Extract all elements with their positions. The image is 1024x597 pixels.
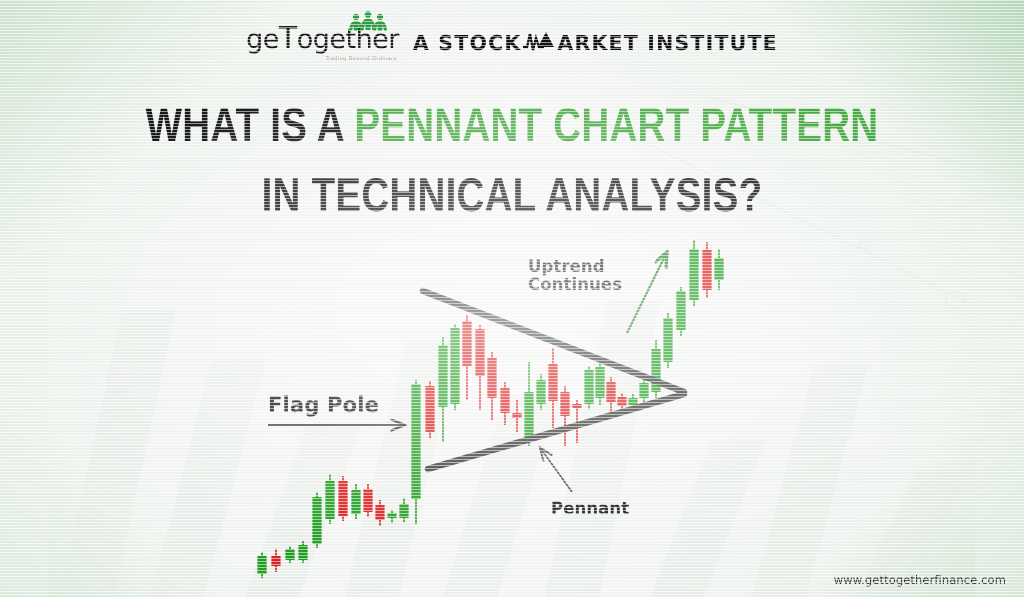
title-line1-green: PENNANT CHART PATTERN [354, 98, 878, 151]
candlestick [536, 374, 545, 410]
flag-pole-label: Flag Pole [268, 394, 379, 418]
infographic-canvas: geTogether Trading Beyond Ordin [0, 0, 1024, 597]
candle-body [450, 328, 459, 404]
header: geTogether Trading Beyond Ordin [0, 24, 1024, 62]
people-group-icon [345, 11, 391, 38]
candle-body [702, 250, 711, 290]
pennant-candlestick-chart [0, 0, 1024, 597]
pennant-label: Pennant [551, 500, 629, 518]
candlestick [676, 287, 685, 336]
title-line2-text: IN TECHNICAL ANALYSIS? [262, 168, 763, 221]
candlestick [387, 510, 396, 523]
candle-body [639, 383, 648, 398]
candle-body [363, 489, 372, 512]
candle-body [375, 505, 384, 520]
candle-body [628, 398, 637, 405]
candle-body [663, 318, 672, 362]
candle-body [548, 364, 557, 401]
uptrend-label-line2: Continues [528, 275, 622, 294]
candle-body [438, 345, 447, 407]
candle-body [271, 556, 280, 566]
uptrend-label-line1: Uptrend [528, 257, 605, 276]
candlestick [325, 474, 334, 524]
candlestick [595, 362, 604, 405]
candle-body [524, 392, 533, 437]
candlestick [500, 382, 509, 425]
candle-body [512, 413, 521, 418]
candle-body [411, 384, 420, 499]
candle-body [285, 549, 294, 560]
candlestick [524, 362, 533, 446]
candle-body [257, 556, 266, 574]
candle-body [714, 258, 723, 280]
candlestick [651, 340, 660, 398]
candle-body [595, 367, 604, 398]
logo-tagline: Trading Beyond Ordinary [326, 56, 397, 62]
lower-support-line [428, 394, 684, 469]
candle-body [298, 545, 307, 560]
candle-body [325, 481, 334, 519]
title-line1-black: WHAT IS A [146, 98, 355, 151]
candlestick [257, 552, 266, 578]
candlestick [285, 546, 294, 563]
candlestick [298, 541, 307, 563]
candlestick [399, 498, 408, 522]
candle-body [606, 382, 615, 402]
candlestick [702, 242, 711, 298]
candle-body [399, 504, 408, 518]
candle-body [584, 370, 593, 404]
candle-body [676, 291, 685, 330]
candle-body [689, 249, 698, 300]
candle-body [487, 358, 496, 398]
pennant-pointer-arrow [541, 449, 572, 492]
candle-body [425, 386, 434, 432]
pulse-icon [522, 29, 556, 58]
candlestick [363, 484, 372, 517]
candlestick [338, 476, 347, 521]
candle-body [462, 321, 471, 366]
brand-tagline-part1: A STOCK [413, 31, 522, 55]
brand-logo[interactable]: geTogether Trading Beyond Ordin [246, 24, 399, 62]
candlestick [663, 313, 672, 368]
candlestick [487, 352, 496, 420]
candlestick [548, 348, 557, 428]
candlestick [560, 386, 569, 446]
candlestick [606, 377, 615, 412]
candlestick [438, 337, 447, 442]
candlestick [639, 379, 648, 403]
candlestick [475, 325, 484, 410]
candlestick [512, 400, 521, 432]
uptrend-continues-label: Uptrend Continues [528, 258, 622, 295]
uptrend-arrow [627, 256, 665, 333]
candle-body [338, 481, 347, 516]
page-title-line1: WHAT IS A PENNANT CHART PATTERN [92, 101, 932, 148]
candlestick [450, 324, 459, 410]
candlestick [584, 366, 593, 409]
candlestick [351, 484, 360, 519]
candlestick [689, 240, 698, 306]
candle-body [572, 404, 581, 408]
candle-body [387, 513, 396, 518]
candlestick [312, 492, 321, 548]
candlestick [425, 381, 434, 438]
page-title-line2: IN TECHNICAL ANALYSIS? [92, 171, 932, 218]
brand-tagline-part2: ARKET INSTITUTE [557, 31, 777, 55]
footer-website[interactable]: www.gettogetherfinance.com [834, 573, 1006, 587]
brand-tagline: A STOCK ARKET INSTITUTE [413, 29, 778, 58]
candle-body [475, 329, 484, 376]
candle-body [312, 497, 321, 544]
candlestick [462, 315, 471, 400]
candle-body [351, 490, 360, 514]
candle-body [617, 397, 626, 406]
candlestick [714, 249, 723, 290]
candle-body [560, 392, 569, 416]
candle-body [500, 388, 509, 413]
candlestick [375, 500, 384, 526]
candle-body [536, 380, 545, 404]
candlestick [411, 380, 420, 524]
candlestick [271, 549, 280, 572]
